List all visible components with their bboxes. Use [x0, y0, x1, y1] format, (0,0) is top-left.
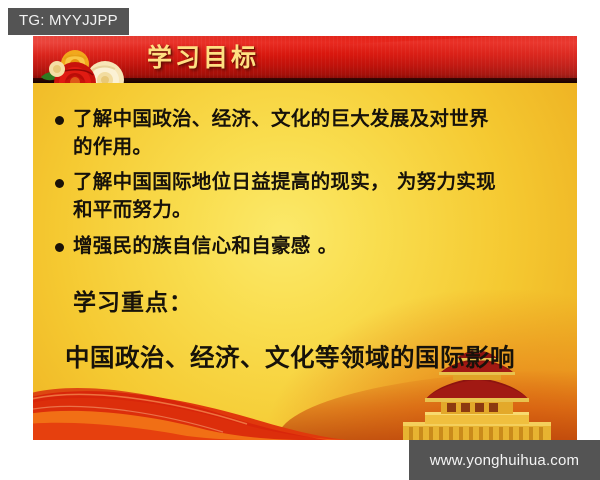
bullet-text: 了解中国政治、经济、文化的巨大发展及对世界 的作用。: [73, 105, 489, 160]
slide-title: 学习目标: [147, 41, 259, 75]
presentation-slide: 学习目标: [33, 36, 577, 440]
list-item: 增强民的族自信心和自豪感 。: [55, 232, 561, 260]
bullet-text: 增强民的族自信心和自豪感 。: [73, 232, 338, 260]
bullet-dot-icon: [55, 179, 64, 188]
slide-header-band: [33, 36, 577, 83]
header-swoosh-overlay: [236, 36, 577, 83]
list-item: 了解中国国际地位日益提高的现实， 为努力实现 和平而努力。: [55, 168, 561, 223]
focus-body-text: 中国政治、经济、文化等领域的国际影响: [65, 339, 561, 374]
objectives-bullet-list: 了解中国政治、经济、文化的巨大发展及对世界 的作用。 了解中国国际地位日益提高的…: [55, 105, 561, 259]
focus-heading: 学习重点：: [73, 283, 561, 317]
bullet-text: 了解中国国际地位日益提高的现实， 为努力实现 和平而努力。: [73, 168, 496, 223]
tg-badge: TG: MYYJJPP: [8, 8, 129, 35]
slide-content: 了解中国政治、经济、文化的巨大发展及对世界 的作用。 了解中国国际地位日益提高的…: [33, 83, 577, 440]
list-item: 了解中国政治、经济、文化的巨大发展及对世界 的作用。: [55, 105, 561, 160]
header-sheen-overlay: [33, 36, 577, 83]
bullet-dot-icon: [55, 116, 64, 125]
watermark-url-badge: www.yonghuihua.com: [409, 440, 600, 480]
slide-body: 了解中国政治、经济、文化的巨大发展及对世界 的作用。 了解中国国际地位日益提高的…: [33, 83, 577, 440]
bullet-dot-icon: [55, 243, 64, 252]
screenshot-root: 学习目标: [0, 0, 600, 480]
